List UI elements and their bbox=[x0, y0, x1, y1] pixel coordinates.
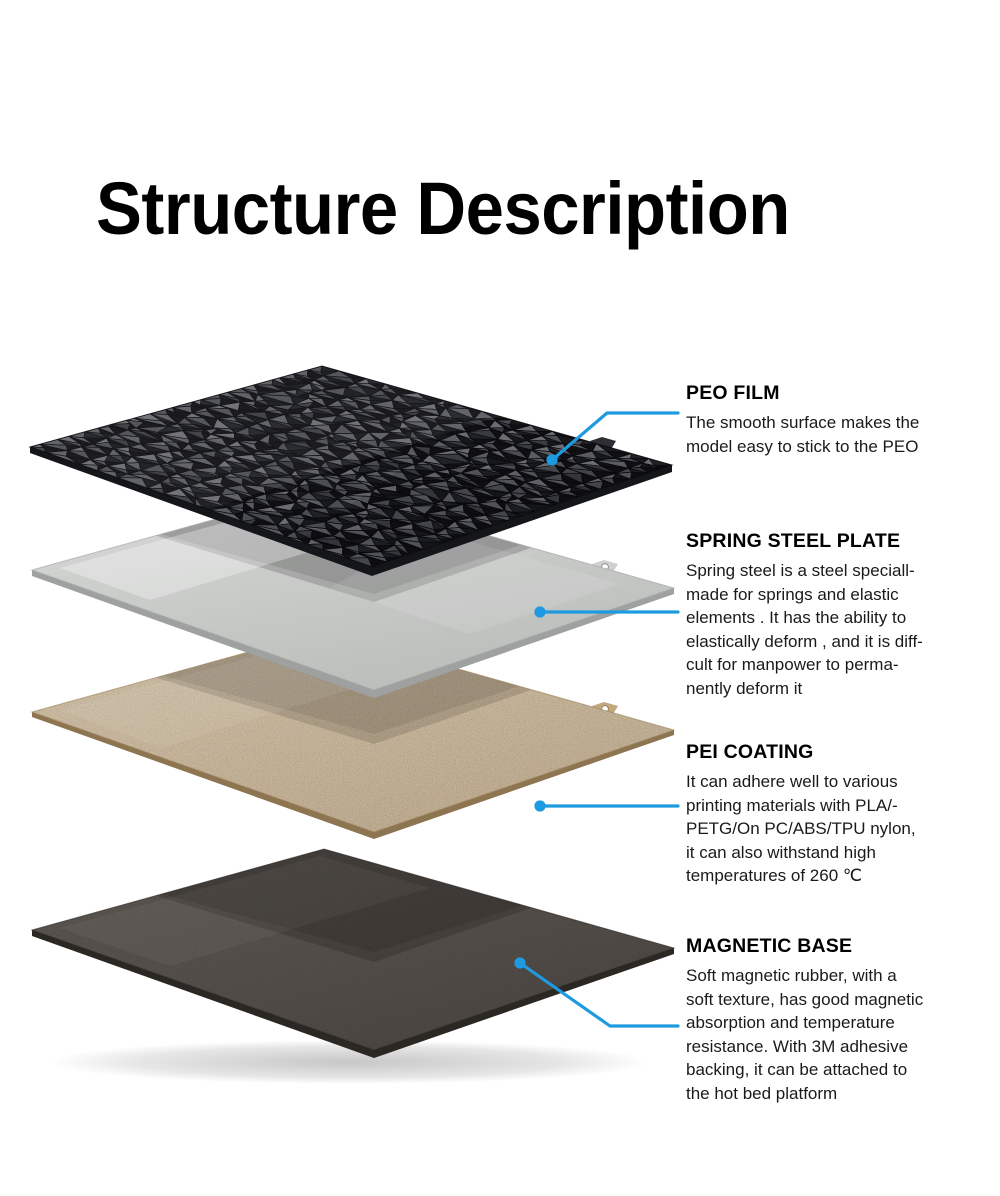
callout-body-spring-steel-plate: Spring steel is a steel speciall- made f… bbox=[686, 559, 986, 700]
callout-pei-coating: PEI COATING It can adhere well to variou… bbox=[686, 740, 986, 888]
callout-peo-film: PEO FILM The smooth surface makes the mo… bbox=[686, 381, 986, 458]
callout-body-magnetic-base: Soft magnetic rubber, with a soft textur… bbox=[686, 964, 986, 1105]
layer-magnetic-base bbox=[0, 830, 700, 1084]
callout-body-pei-coating: It can adhere well to various printing m… bbox=[686, 770, 986, 888]
callout-magnetic-base: MAGNETIC BASE Soft magnetic rubber, with… bbox=[686, 934, 986, 1105]
callout-spring-steel-plate: SPRING STEEL PLATE Spring steel is a ste… bbox=[686, 529, 986, 700]
peo-film-texture bbox=[30, 366, 672, 567]
callout-title-magnetic-base: MAGNETIC BASE bbox=[686, 934, 986, 958]
callout-title-pei-coating: PEI COATING bbox=[686, 740, 986, 764]
leader-dot-pei-coating bbox=[534, 800, 545, 811]
leader-dot-peo-film bbox=[546, 454, 557, 465]
callout-title-peo-film: PEO FILM bbox=[686, 381, 986, 405]
structure-description-page: Structure Description bbox=[0, 0, 1000, 1196]
leader-dot-magnetic-base bbox=[514, 957, 525, 968]
callout-body-peo-film: The smooth surface makes the model easy … bbox=[686, 411, 986, 458]
callout-title-spring-steel-plate: SPRING STEEL PLATE bbox=[686, 529, 986, 553]
leader-dot-spring-steel bbox=[534, 606, 545, 617]
